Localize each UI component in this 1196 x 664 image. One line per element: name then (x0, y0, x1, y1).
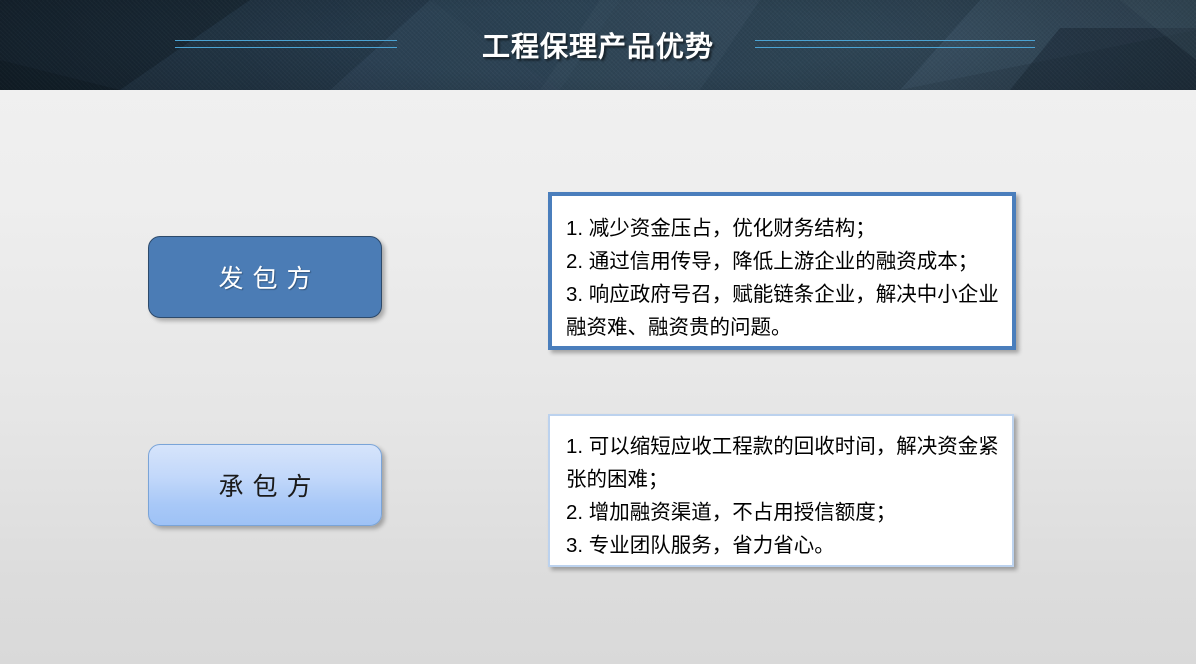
benefits-box-chengbaofang: 1. 可以缩短应收工程款的回收时间，解决资金紧张的困难； 2. 增加融资渠道，不… (548, 414, 1014, 567)
benefits-box-fabaofang-text: 1. 减少资金压占，优化财务结构； 2. 通过信用传导，降低上游企业的融资成本；… (566, 212, 1004, 344)
role-pill-chengbaofang[interactable]: 承包方 (148, 444, 382, 526)
role-pill-fabaofang-label: 发包方 (209, 259, 320, 295)
page-title: 工程保理产品优势 (0, 25, 1196, 65)
benefits-box-chengbaofang-text: 1. 可以缩短应收工程款的回收时间，解决资金紧张的困难； 2. 增加融资渠道，不… (566, 430, 1004, 562)
role-pill-chengbaofang-label: 承包方 (209, 467, 320, 503)
slide-header-banner: 工程保理产品优势 (0, 0, 1196, 90)
role-pill-fabaofang[interactable]: 发包方 (148, 236, 382, 318)
slide-canvas: 工程保理产品优势 发包方 1. 减少资金压占，优化财务结构； 2. 通过信用传导… (0, 0, 1196, 664)
benefits-box-fabaofang: 1. 减少资金压占，优化财务结构； 2. 通过信用传导，降低上游企业的融资成本；… (548, 192, 1016, 350)
